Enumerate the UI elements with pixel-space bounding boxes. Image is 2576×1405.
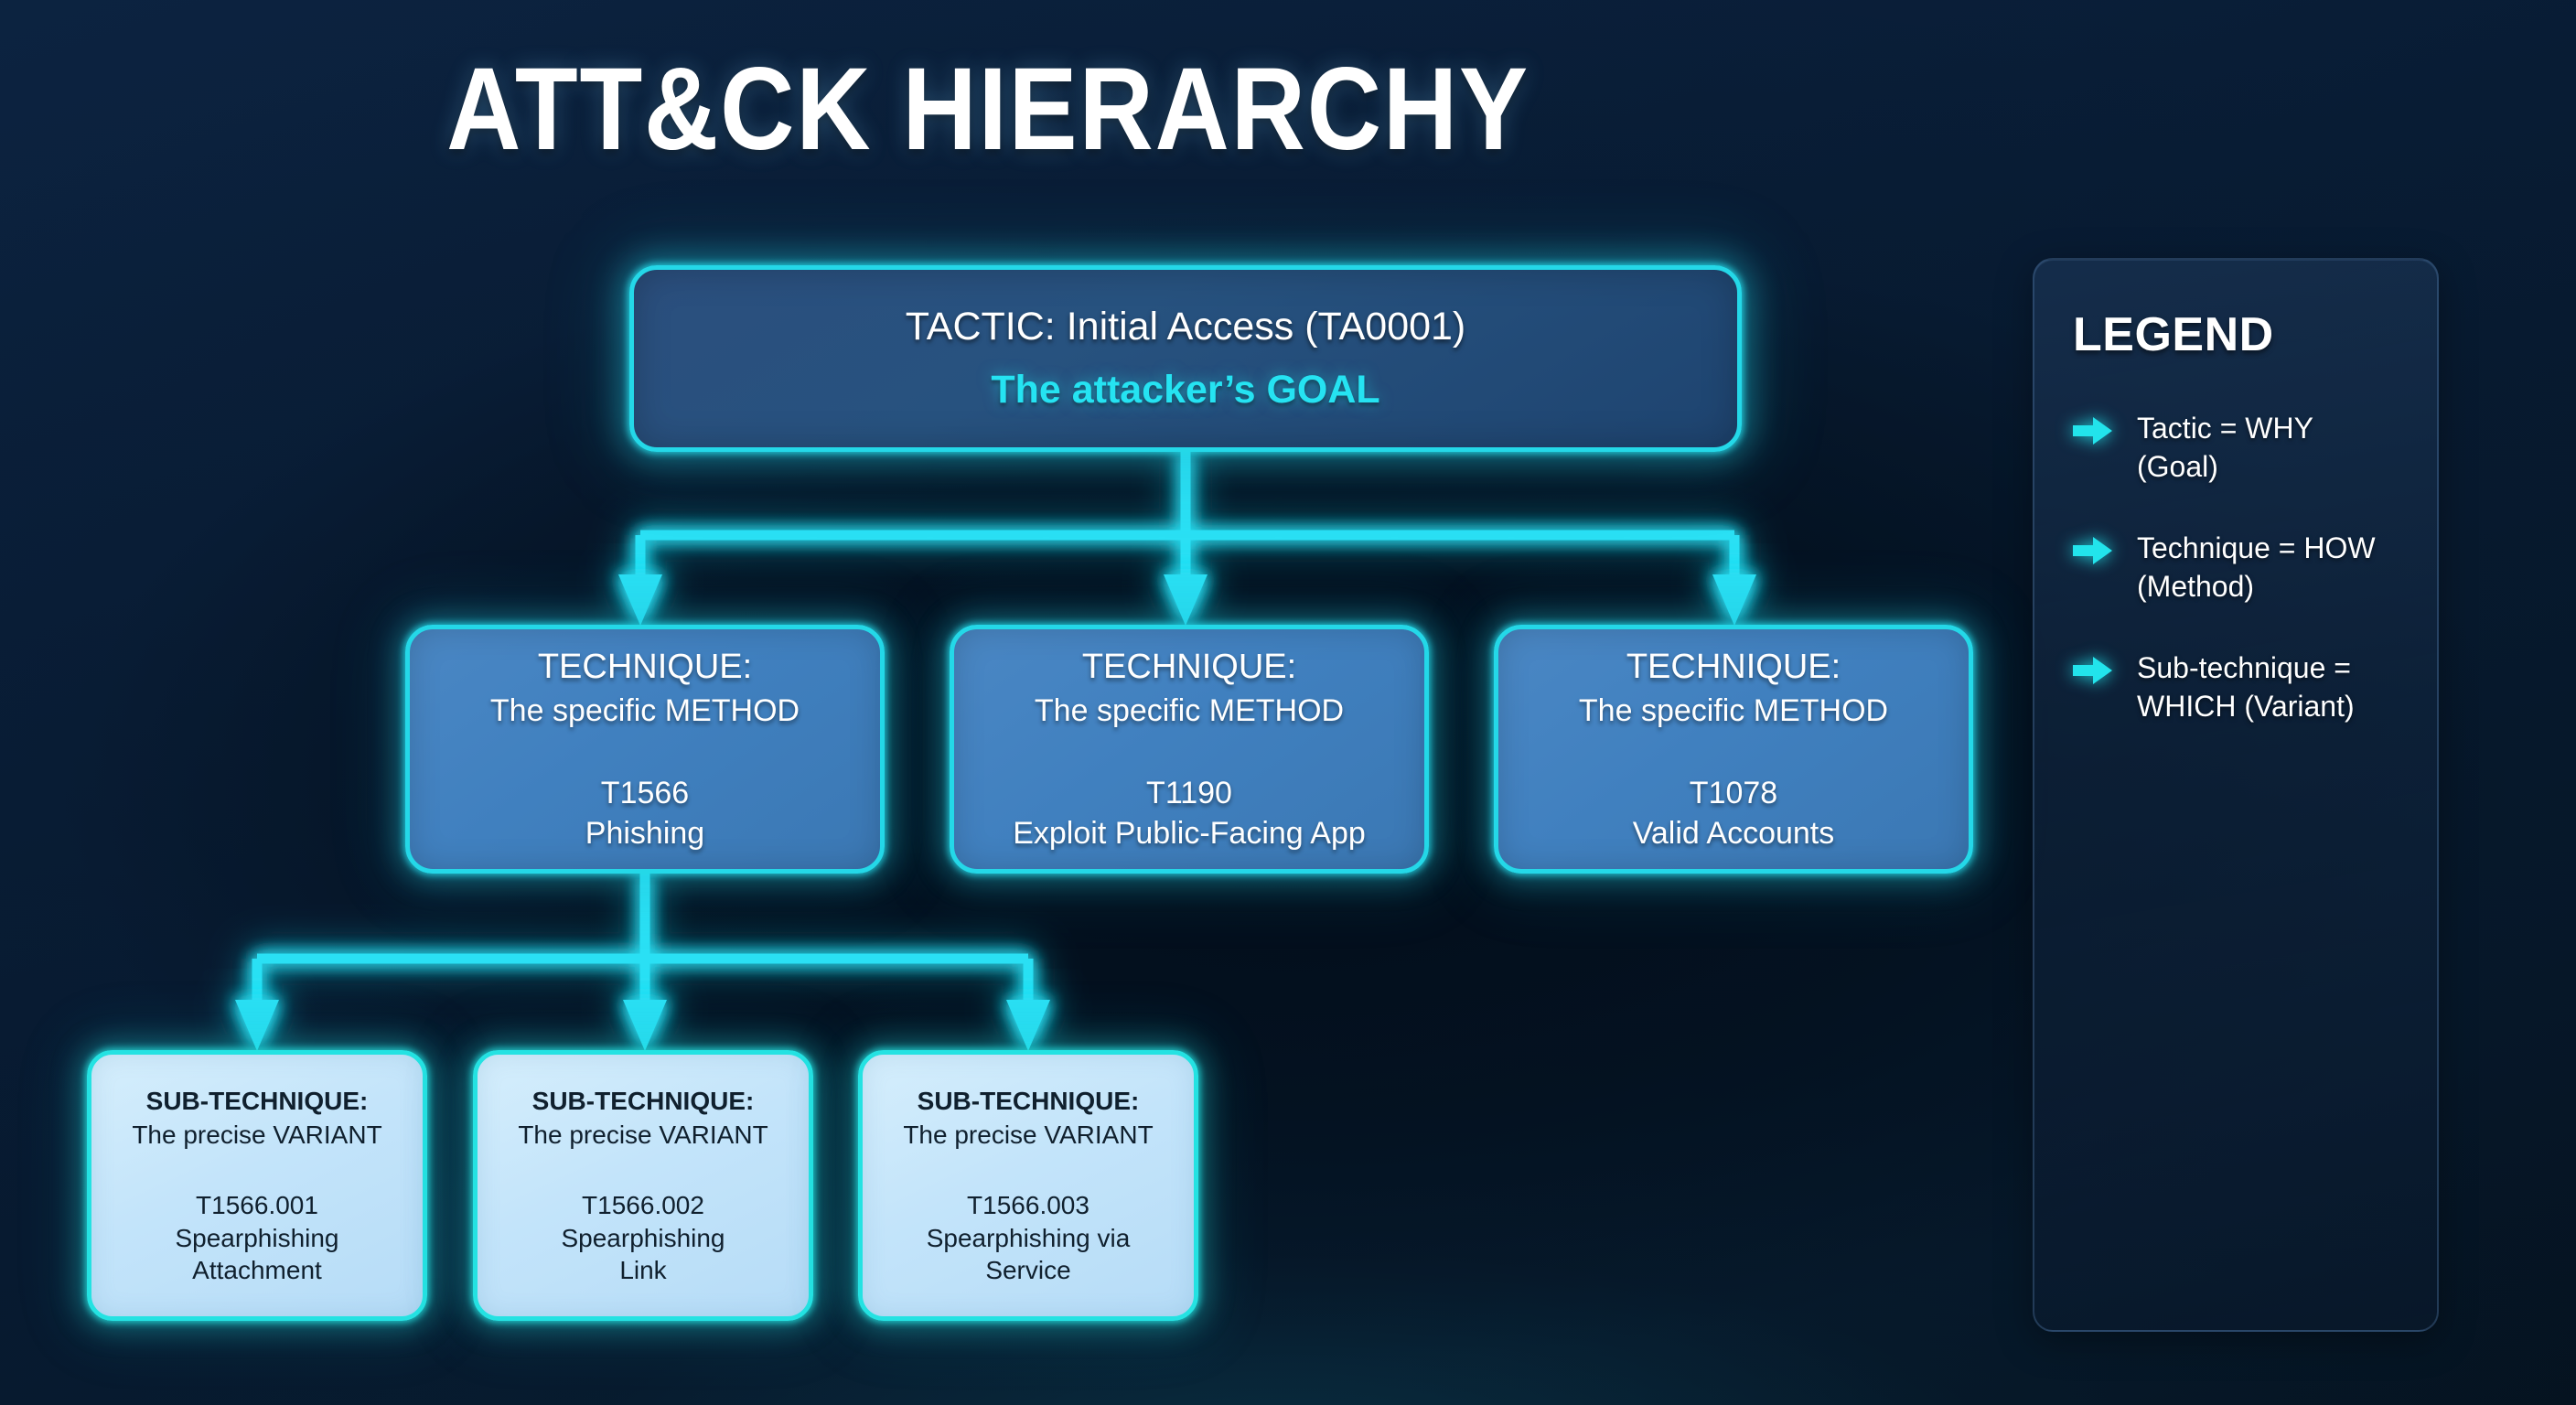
- legend-item-technique: Technique = HOW (Method): [2073, 530, 2400, 606]
- arrow-right-icon: [2073, 535, 2113, 571]
- technique-id: T1078: [1690, 775, 1777, 811]
- subtechnique-description: The precise VARIANT: [132, 1120, 381, 1150]
- technique-id: T1190: [1146, 775, 1232, 811]
- technique-node-t1190[interactable]: TECHNIQUE: The specific METHOD T1190 Exp…: [950, 625, 1429, 874]
- legend-item-subtechnique: Sub-technique = WHICH (Variant): [2073, 649, 2400, 725]
- technique-description: The specific METHOD: [1035, 692, 1344, 729]
- subtechnique-label: SUB-TECHNIQUE:: [532, 1086, 755, 1116]
- subtechnique-description: The precise VARIANT: [518, 1120, 767, 1150]
- subtechnique-label: SUB-TECHNIQUE:: [918, 1086, 1140, 1116]
- technique-to-subtechnique-wires: [257, 874, 1028, 1002]
- tactic-subheading: The attacker’s GOAL: [991, 367, 1379, 413]
- arrow-right-icon: [2073, 415, 2113, 451]
- subtechnique-node-t1566-003[interactable]: SUB-TECHNIQUE: The precise VARIANT T1566…: [858, 1050, 1198, 1321]
- legend-line-1: Tactic = WHY: [2137, 412, 2313, 445]
- legend-line-1: Technique = HOW: [2137, 531, 2376, 564]
- subtechnique-name-line2: Service: [985, 1255, 1070, 1285]
- legend-line-1: Sub-technique =: [2137, 651, 2351, 684]
- subtechnique-arrowheads: [235, 1000, 1050, 1051]
- subtechnique-id: T1566.002: [582, 1190, 704, 1220]
- legend-item-label: Tactic = WHY (Goal): [2137, 410, 2313, 486]
- subtechnique-id: T1566.001: [196, 1190, 318, 1220]
- technique-label: TECHNIQUE:: [1626, 647, 1841, 688]
- technique-node-t1566[interactable]: TECHNIQUE: The specific METHOD T1566 Phi…: [405, 625, 885, 874]
- subtechnique-name-line2: Attachment: [192, 1255, 322, 1285]
- technique-name: Exploit Public-Facing App: [1013, 815, 1366, 852]
- arrow-right-icon: [2073, 655, 2113, 691]
- technique-name: Phishing: [585, 815, 704, 852]
- subtechnique-id: T1566.003: [967, 1190, 1089, 1220]
- page-title: ATT&CK HIERARCHY: [119, 42, 1858, 177]
- technique-description: The specific METHOD: [1579, 692, 1888, 729]
- technique-id: T1566: [601, 775, 689, 811]
- legend-line-2: (Method): [2137, 570, 2254, 603]
- legend-panel: LEGEND Tactic = WHY (Goal) Technique = H…: [2033, 258, 2439, 1332]
- subtechnique-node-t1566-002[interactable]: SUB-TECHNIQUE: The precise VARIANT T1566…: [473, 1050, 813, 1321]
- subtechnique-name-line2: Link: [619, 1255, 666, 1285]
- legend-item-tactic: Tactic = WHY (Goal): [2073, 410, 2400, 486]
- tactic-heading: TACTIC: Initial Access (TA0001): [906, 304, 1466, 350]
- legend-line-2: (Goal): [2137, 450, 2218, 483]
- subtechnique-name-line1: Spearphishing: [175, 1223, 338, 1253]
- technique-node-t1078[interactable]: TECHNIQUE: The specific METHOD T1078 Val…: [1494, 625, 1973, 874]
- tactic-node[interactable]: TACTIC: Initial Access (TA0001) The atta…: [629, 265, 1742, 452]
- subtechnique-description: The precise VARIANT: [903, 1120, 1153, 1150]
- technique-label: TECHNIQUE:: [538, 647, 752, 688]
- technique-arrowheads: [618, 574, 1756, 626]
- subtechnique-name-line1: Spearphishing: [561, 1223, 724, 1253]
- subtechnique-node-t1566-001[interactable]: SUB-TECHNIQUE: The precise VARIANT T1566…: [87, 1050, 427, 1321]
- diagram-canvas: ATT&CK HIERARCHY: [0, 0, 2576, 1405]
- legend-item-label: Sub-technique = WHICH (Variant): [2137, 649, 2355, 725]
- technique-name: Valid Accounts: [1633, 815, 1835, 852]
- technique-label: TECHNIQUE:: [1082, 647, 1296, 688]
- legend-title: LEGEND: [2073, 307, 2400, 362]
- legend-line-2: WHICH (Variant): [2137, 690, 2355, 723]
- legend-item-label: Technique = HOW (Method): [2137, 530, 2376, 606]
- technique-description: The specific METHOD: [490, 692, 800, 729]
- subtechnique-label: SUB-TECHNIQUE:: [146, 1086, 369, 1116]
- subtechnique-name-line1: Spearphishing via: [927, 1223, 1131, 1253]
- tactic-to-technique-wires: [640, 452, 1734, 576]
